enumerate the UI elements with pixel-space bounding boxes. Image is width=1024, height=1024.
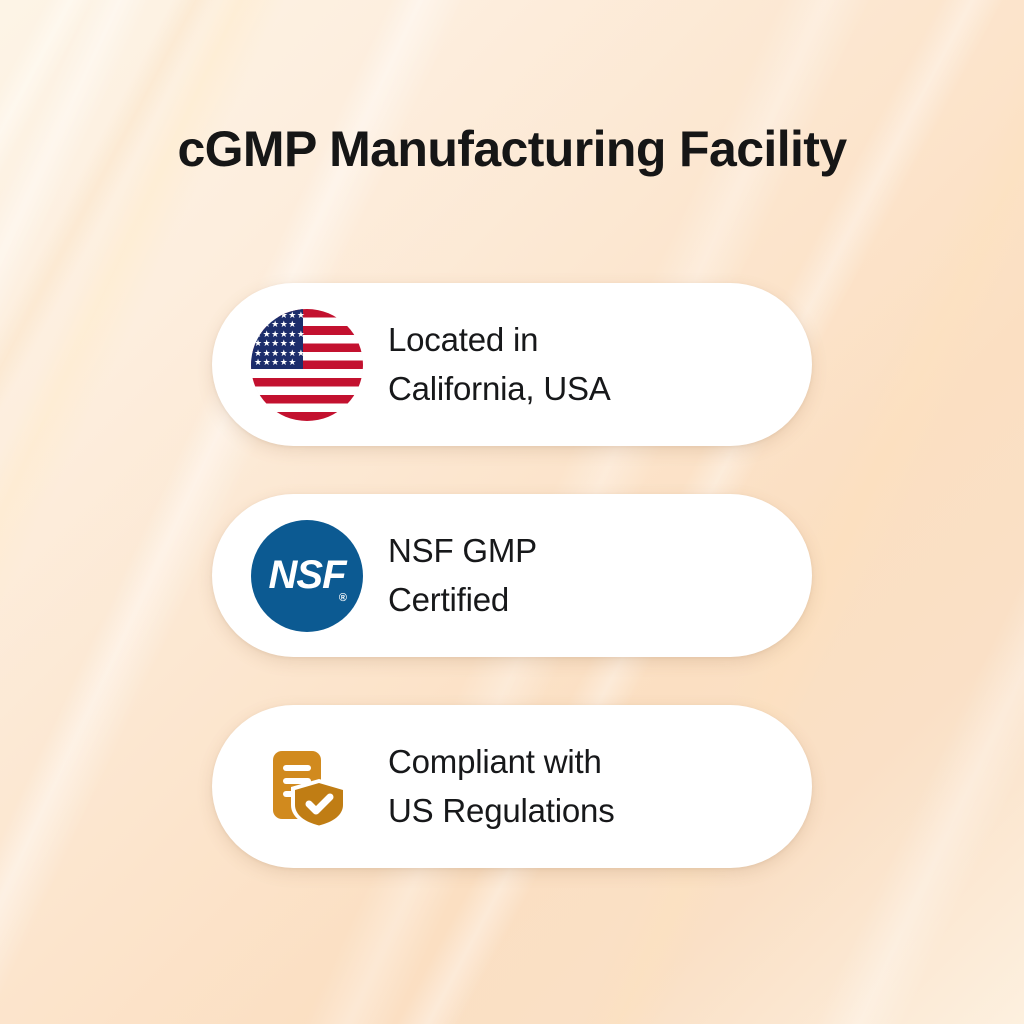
feature-card-compliance-text: Compliant with US Regulations	[388, 738, 615, 835]
registered-mark-icon: ®	[339, 592, 347, 604]
card-line-1: Located in	[388, 316, 611, 365]
card-line-1: NSF GMP	[388, 527, 537, 576]
feature-card-nsf[interactable]: NSF ® NSF GMP Certified	[212, 494, 812, 657]
card-line-1: Compliant with	[388, 738, 615, 787]
page-title: cGMP Manufacturing Facility	[0, 120, 1024, 178]
feature-card-location-text: Located in California, USA	[388, 316, 611, 413]
flag-stars: ★★★★★★★★★★★★★★★★★★★★★★★★★★★★★★★★★	[251, 309, 303, 369]
card-line-2: Certified	[388, 576, 537, 625]
feature-card-list: ★★★★★★★★★★★★★★★★★★★★★★★★★★★★★★★★★ Locate…	[0, 283, 1024, 916]
us-flag-icon: ★★★★★★★★★★★★★★★★★★★★★★★★★★★★★★★★★	[248, 306, 366, 424]
nsf-logo-text: NSF	[269, 553, 346, 598]
infographic-canvas: cGMP Manufacturing Facility ★★★★★★★★★★★★…	[0, 0, 1024, 1024]
document-shield-check-icon	[248, 728, 366, 846]
card-line-2: US Regulations	[388, 787, 615, 836]
feature-card-nsf-text: NSF GMP Certified	[388, 527, 537, 624]
feature-card-location[interactable]: ★★★★★★★★★★★★★★★★★★★★★★★★★★★★★★★★★ Locate…	[212, 283, 812, 446]
feature-card-compliance[interactable]: Compliant with US Regulations	[212, 705, 812, 868]
nsf-logo-icon: NSF ®	[248, 517, 366, 635]
flag-canton: ★★★★★★★★★★★★★★★★★★★★★★★★★★★★★★★★★	[251, 309, 303, 369]
card-line-2: California, USA	[388, 365, 611, 414]
